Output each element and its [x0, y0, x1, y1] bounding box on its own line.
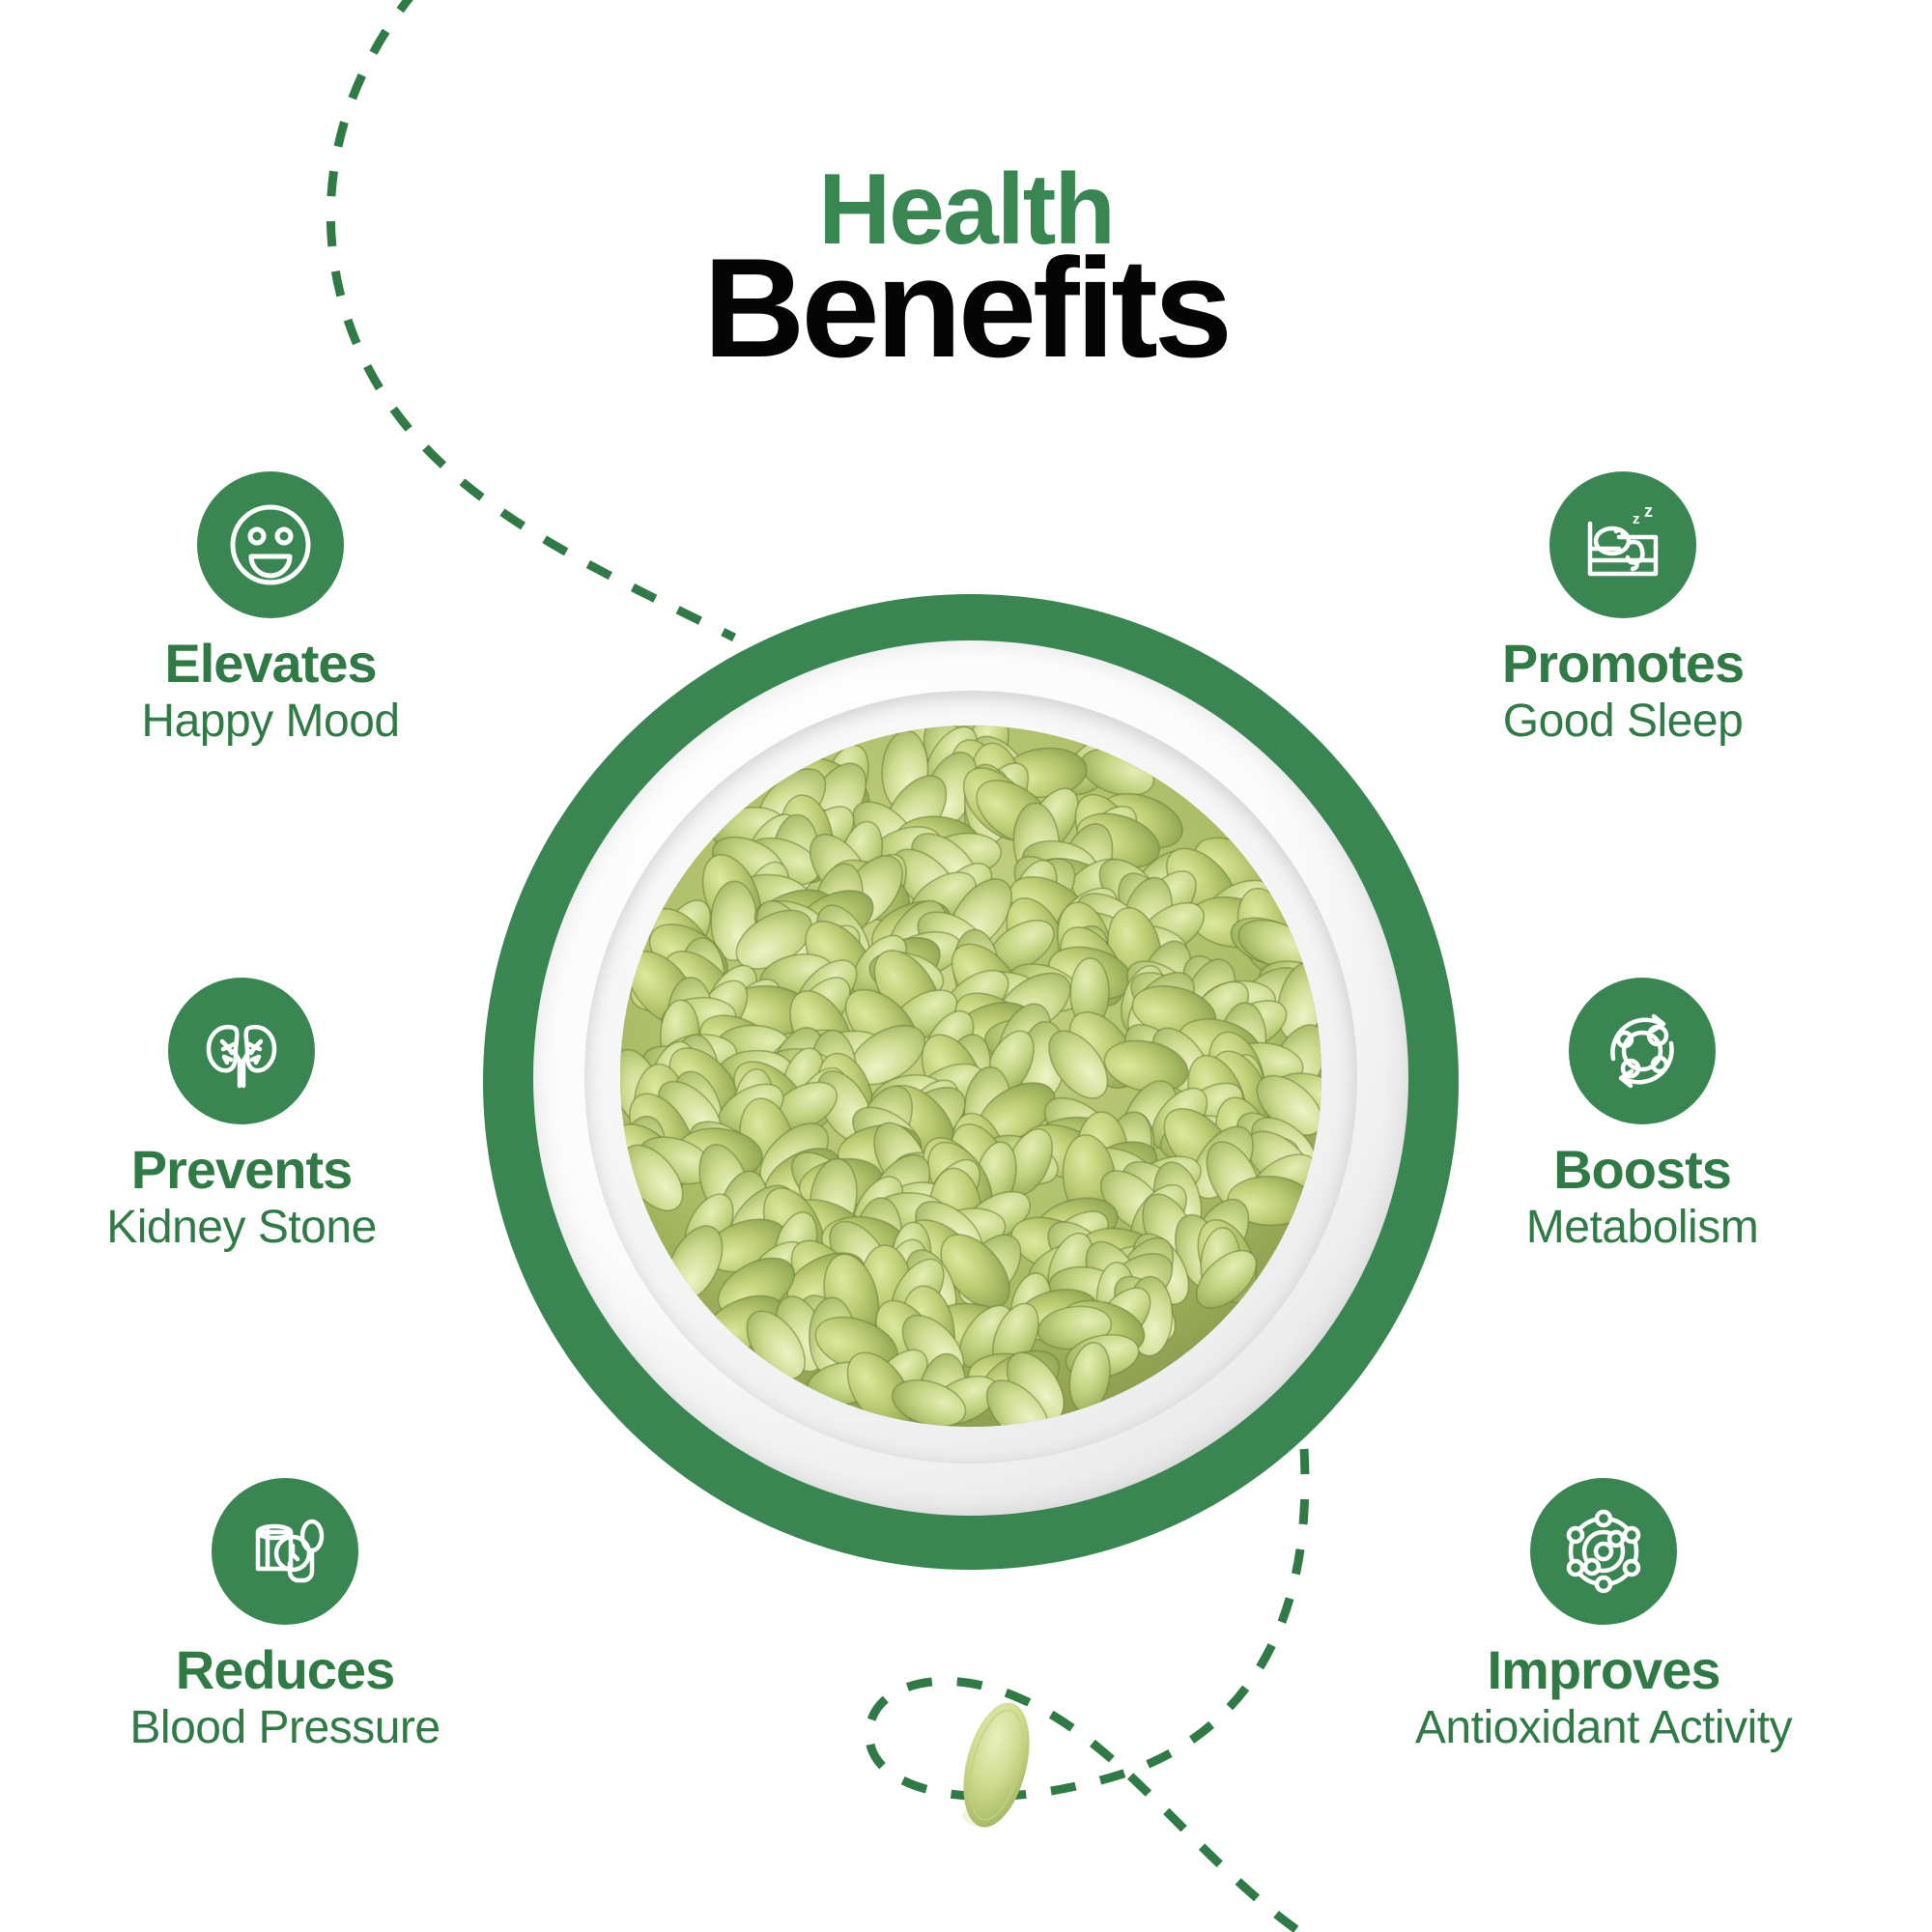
badge-circle-good-sleep: z z [1549, 471, 1696, 618]
smiley-face-icon [224, 498, 317, 591]
benefit-title: Elevates [19, 636, 522, 692]
benefit-item-antioxidant[interactable]: Improves Antioxidant Activity [1352, 1478, 1855, 1754]
svg-text:z: z [1633, 511, 1640, 527]
benefit-item-metabolism[interactable]: Boosts Metabolism [1391, 978, 1893, 1254]
benefit-title: Improves [1352, 1642, 1855, 1698]
antioxidant-atom-icon [1557, 1505, 1650, 1598]
infographic-canvas: Health Benefits [0, 0, 1932, 1932]
benefit-subtitle: Antioxidant Activity [1352, 1702, 1855, 1754]
badge-circle-kidney-stone [168, 978, 315, 1124]
pumpkin-seeds-fill [620, 725, 1321, 1427]
benefit-item-good-sleep[interactable]: z z Promotes Good Sleep [1372, 471, 1874, 748]
benefit-item-happy-mood[interactable]: Elevates Happy Mood [19, 471, 522, 748]
benefit-item-blood-pressure[interactable]: Reduces Blood Pressure [34, 1478, 536, 1754]
benefit-subtitle: Kidney Stone [0, 1202, 493, 1254]
single-pumpkin-seed [935, 1687, 1056, 1847]
badge-circle-blood-pressure [212, 1478, 358, 1625]
blood-pressure-cuff-icon [239, 1505, 331, 1598]
bowl-of-pumpkin-seeds [483, 594, 1459, 1570]
svg-text:z: z [1644, 501, 1653, 521]
metabolism-cycle-icon [1596, 1005, 1689, 1097]
benefit-subtitle: Metabolism [1391, 1202, 1893, 1254]
badge-circle-metabolism [1569, 978, 1716, 1124]
badge-circle-happy-mood [197, 471, 344, 618]
benefit-title: Reduces [34, 1642, 536, 1698]
kidneys-icon [195, 1005, 288, 1097]
title-line-benefits: Benefits [0, 243, 1932, 373]
benefit-subtitle: Blood Pressure [34, 1702, 536, 1754]
benefit-subtitle: Happy Mood [19, 696, 522, 748]
benefit-title: Promotes [1372, 636, 1874, 692]
benefit-item-kidney-stone[interactable]: Prevents Kidney Stone [0, 978, 493, 1254]
benefit-subtitle: Good Sleep [1372, 696, 1874, 748]
benefit-title: Boosts [1391, 1142, 1893, 1198]
badge-circle-antioxidant [1530, 1478, 1677, 1625]
sleeping-person-bed-icon: z z [1577, 498, 1669, 591]
page-title: Health Benefits [0, 162, 1932, 373]
benefit-title: Prevents [0, 1142, 493, 1198]
